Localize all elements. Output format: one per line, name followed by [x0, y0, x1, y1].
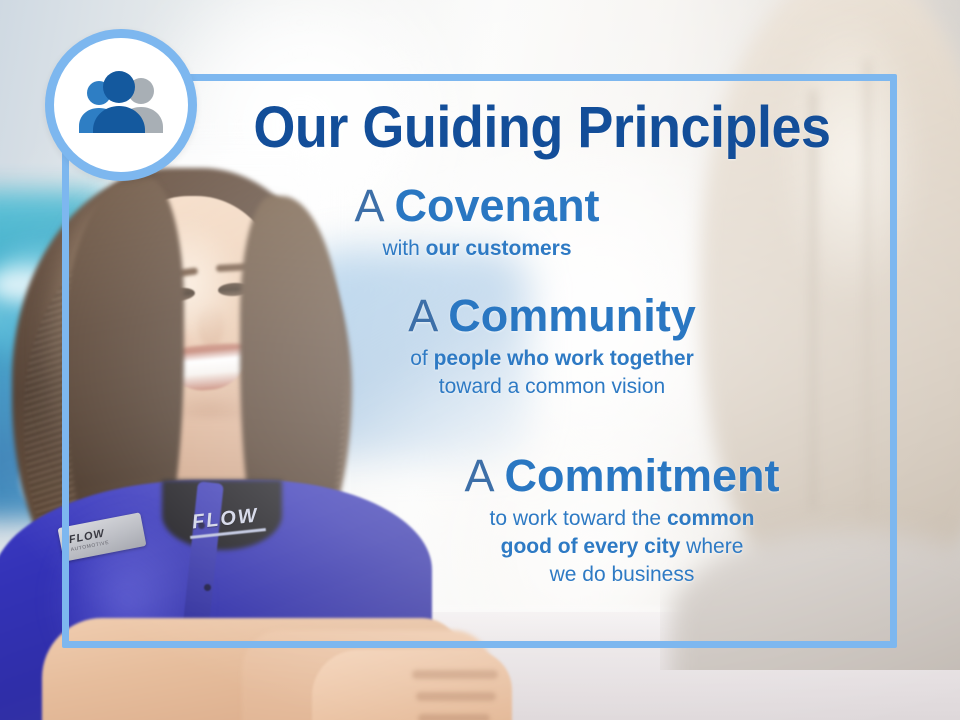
principle-headline: A Community: [292, 292, 812, 339]
principle-subtitle: with our customers: [242, 235, 712, 263]
subtitle-line: with our customers: [242, 235, 712, 263]
subtitle-line: we do business: [362, 561, 882, 589]
subtitle-line: of people who work together: [292, 345, 812, 373]
subtitle-line: to work toward the common: [362, 505, 882, 533]
principle-keyword: Covenant: [395, 180, 600, 231]
principle-block-commitment: A Commitment to work toward the common g…: [362, 452, 882, 588]
principle-headline: A Commitment: [362, 452, 882, 499]
subtitle-segment: toward a common vision: [439, 375, 665, 398]
subtitle-line: toward a common vision: [292, 373, 812, 401]
poster-text-content: Our Guiding Principles A Covenant with o…: [62, 74, 897, 648]
principle-block-community: A Community of people who work together …: [292, 292, 812, 401]
principle-subtitle: to work toward the common good of every …: [362, 505, 882, 588]
subtitle-segment-bold: our customers: [426, 237, 572, 260]
subtitle-line: good of every city where: [362, 533, 882, 561]
principle-subtitle: of people who work together toward a com…: [292, 345, 812, 400]
subtitle-segment: we do business: [550, 563, 695, 586]
principle-article: A: [354, 180, 382, 231]
principle-headline: A Covenant: [242, 182, 712, 229]
subtitle-segment-bold: good of every city: [501, 535, 681, 558]
subtitle-segment: with: [382, 237, 425, 260]
principle-keyword: Commitment: [505, 450, 780, 501]
poster-canvas: FLOW AUTOMOTIVE FLOW: [0, 0, 960, 720]
subtitle-segment-bold: common: [667, 507, 755, 530]
principle-article: A: [464, 450, 492, 501]
subtitle-segment-bold: people who work together: [434, 347, 694, 370]
principle-keyword: Community: [448, 290, 696, 341]
page-title: Our Guiding Principles: [235, 94, 849, 161]
subtitle-segment: where: [680, 535, 743, 558]
subtitle-segment: to work toward the: [490, 507, 667, 530]
principle-block-covenant: A Covenant with our customers: [242, 182, 712, 263]
principle-article: A: [408, 290, 436, 341]
subtitle-segment: of: [410, 347, 433, 370]
